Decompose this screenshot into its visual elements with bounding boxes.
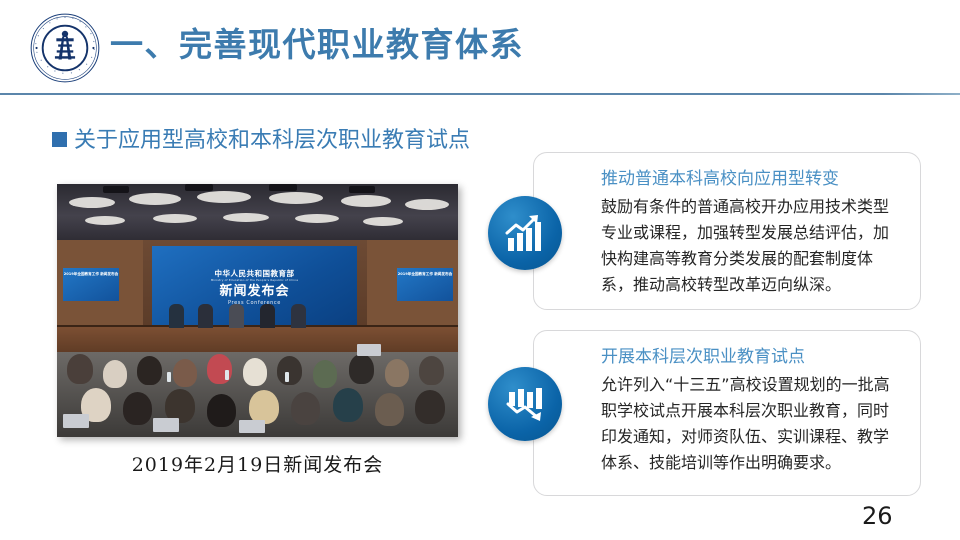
photo-content: 2019年全国教育工作 新闻发布会 2019年全国教育工作 新闻发布会 中华人民… (57, 184, 458, 437)
side-screen-right: 2019年全国教育工作 新闻发布会 (397, 268, 453, 301)
photo-caption: 2019年2月19日新闻发布会 (57, 450, 458, 477)
audience-head (277, 356, 302, 385)
ceiling-light (85, 216, 125, 225)
slide-header: 一、完善现代职业教育体系 (0, 0, 960, 94)
ceiling-light (197, 191, 251, 203)
ceiling-fixture (269, 184, 297, 191)
audience-head (249, 390, 279, 424)
ceiling-light (341, 195, 391, 207)
ceiling-light (69, 197, 115, 208)
square-bullet-icon (52, 132, 67, 147)
panelist (229, 304, 244, 328)
ceiling-light (363, 217, 403, 226)
ceiling-light (153, 214, 197, 223)
press-conference-photo: 2019年全国教育工作 新闻发布会 2019年全国教育工作 新闻发布会 中华人民… (57, 184, 458, 437)
panelist (198, 304, 213, 328)
backdrop-line-1: 中华人民共和国教育部 (215, 270, 295, 278)
page-number: 26 (862, 502, 893, 530)
info-card-2-title: 开展本科层次职业教育试点 (601, 342, 904, 367)
panelist (169, 304, 184, 328)
laptop (63, 414, 89, 428)
header-divider (0, 93, 960, 95)
audience-head (349, 354, 374, 384)
bar-chart-rising-icon (488, 196, 562, 270)
ceiling-light (223, 213, 269, 222)
side-screen-left: 2019年全国教育工作 新闻发布会 (63, 268, 119, 301)
info-card-2: 开展本科层次职业教育试点 允许列入“十三五”高校设置规划的一批高职学校试点开展本… (533, 330, 921, 496)
laptop (239, 420, 265, 433)
slide: 一、完善现代职业教育体系 关于应用型高校和本科层次职业教育试点 (0, 0, 960, 540)
ceiling-fixture (185, 184, 213, 191)
info-card-2-body: 开展本科层次职业教育试点 允许列入“十三五”高校设置规划的一批高职学校试点开展本… (601, 342, 904, 476)
audience-head (137, 356, 162, 385)
info-card-1: 推动普通本科高校向应用型转变 鼓励有条件的普通高校开办应用技术类型专业或课程，加… (533, 152, 921, 310)
water-bottle (167, 372, 171, 382)
panelist (260, 304, 275, 328)
audience-head (173, 359, 197, 387)
audience-head (123, 392, 152, 425)
audience-head (415, 390, 445, 424)
audience-head (419, 356, 444, 385)
laptop (153, 418, 179, 432)
ceiling-light (269, 192, 323, 204)
page-title: 一、完善现代职业教育体系 (110, 18, 524, 66)
audience-head (67, 354, 93, 384)
audience-head (207, 394, 236, 427)
audience-head (313, 360, 337, 388)
ceiling-light (129, 193, 181, 205)
backdrop-line-2: Ministry of Education of the People's Re… (211, 279, 298, 282)
audience-head (291, 392, 320, 425)
audience-head (243, 358, 267, 386)
ceiling-light (405, 199, 449, 210)
audience-head (375, 393, 404, 426)
podium-desk (57, 327, 458, 355)
info-card-1-title: 推动普通本科高校向应用型转变 (601, 164, 904, 189)
ministry-of-education-emblem-icon (29, 12, 101, 84)
info-card-2-text: 允许列入“十三五”高校设置规划的一批高职学校试点开展本科层次职业教育，同时印发通… (601, 372, 904, 476)
ceiling-fixture (103, 186, 129, 193)
audience-head (103, 360, 127, 388)
info-card-1-text: 鼓励有条件的普通高校开办应用技术类型专业或课程，加强转型发展总结评估，加快构建高… (601, 194, 904, 298)
ceiling-light (295, 214, 339, 223)
backdrop-line-3: 新闻发布会 (219, 285, 289, 299)
info-card-1-body: 推动普通本科高校向应用型转变 鼓励有条件的普通高校开办应用技术类型专业或课程，加… (601, 164, 904, 298)
audience-head (333, 388, 363, 422)
water-bottle (285, 372, 289, 382)
ceiling-fixture (349, 186, 375, 193)
section-subtitle-label: 关于应用型高校和本科层次职业教育试点 (74, 122, 470, 154)
water-bottle (225, 370, 229, 380)
audience-head (385, 359, 409, 387)
section-subtitle: 关于应用型高校和本科层次职业教育试点 (52, 122, 470, 154)
laptop (357, 344, 381, 356)
bar-chart-falling-icon (488, 367, 562, 441)
panelist (291, 304, 306, 328)
